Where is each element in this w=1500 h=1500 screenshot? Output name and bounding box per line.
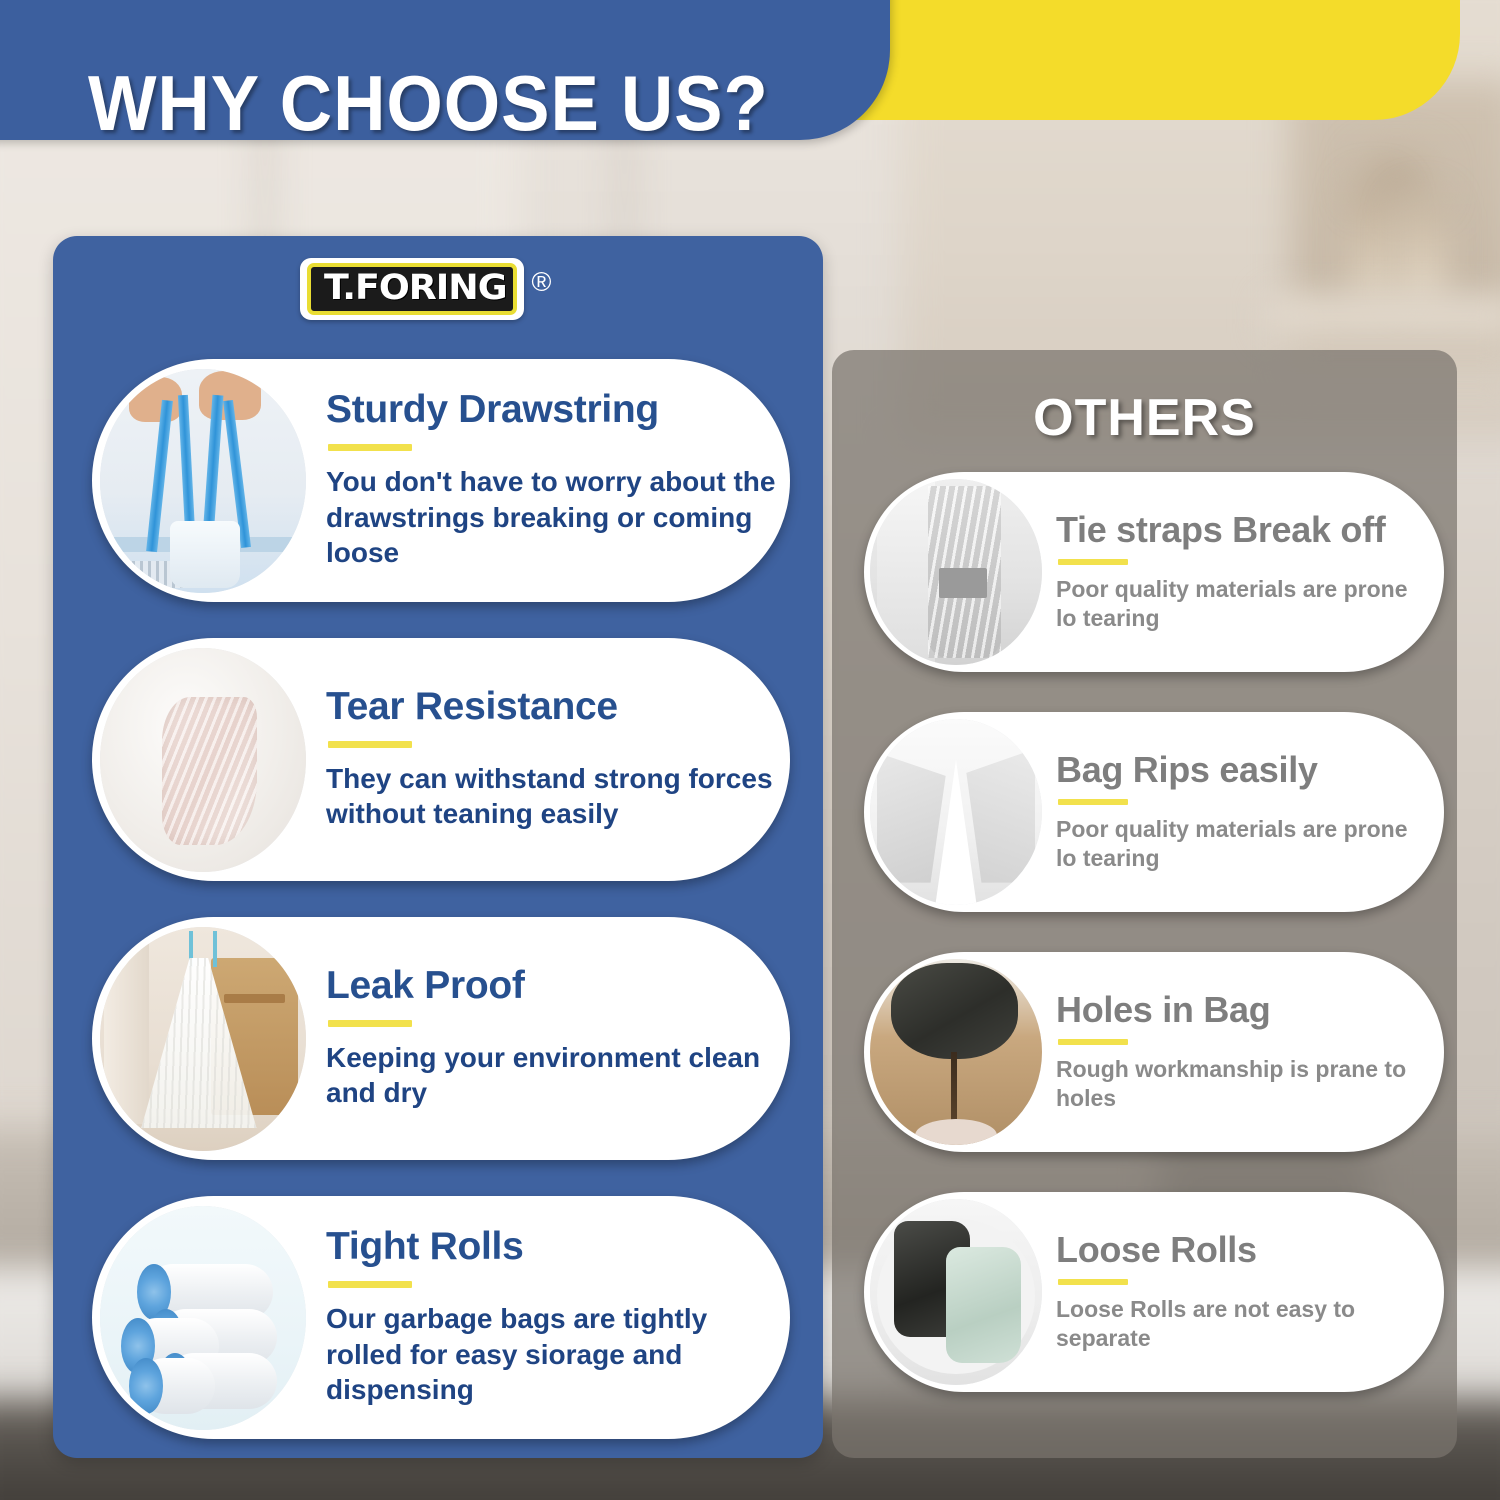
feature-card-tear-resistance[interactable]: Tear Resistance They can withstand stron… bbox=[92, 638, 790, 881]
feature-card-body: Sturdy Drawstring You don't have to worr… bbox=[306, 390, 790, 570]
title-underline-rule bbox=[328, 444, 412, 451]
logo-text: T.FORING bbox=[324, 271, 507, 306]
drawback-thumbnail-holes-in-bag bbox=[870, 959, 1042, 1145]
drawback-thumbnail-loose-rolls bbox=[870, 1199, 1042, 1385]
title-underline-rule bbox=[1058, 1039, 1128, 1045]
drawback-card-body: Holes in Bag Rough workmanship is prane … bbox=[1042, 991, 1444, 1113]
feature-title: Tight Rolls bbox=[326, 1227, 776, 1268]
title-underline-rule bbox=[328, 1020, 412, 1027]
feature-description: You don't have to worry about the drawst… bbox=[326, 464, 776, 571]
feature-description: Our garbage bags are tightly rolled for … bbox=[326, 1301, 776, 1408]
title-underline-rule bbox=[1058, 559, 1128, 565]
registered-trademark-icon: ® bbox=[532, 269, 552, 296]
drawback-description: Poor quality materials are prone lo tear… bbox=[1056, 815, 1430, 873]
feature-thumbnail-tear-resistance bbox=[100, 648, 306, 872]
feature-card-body: Tear Resistance They can withstand stron… bbox=[306, 687, 790, 832]
title-underline-rule bbox=[1058, 799, 1128, 805]
title-underline-rule bbox=[328, 741, 412, 748]
drawback-title: Tie straps Break off bbox=[1056, 511, 1430, 548]
feature-card-tight-rolls[interactable]: Tight Rolls Our garbage bags are tightly… bbox=[92, 1196, 790, 1439]
page-title: WHY CHOOSE US? bbox=[88, 58, 769, 149]
feature-description: Keeping your environment clean and dry bbox=[326, 1040, 776, 1111]
feature-card-body: Leak Proof Keeping your environment clea… bbox=[306, 966, 790, 1111]
feature-card-leak-proof[interactable]: Leak Proof Keeping your environment clea… bbox=[92, 917, 790, 1160]
drawback-description: Rough workmanship is prane to holes bbox=[1056, 1055, 1430, 1113]
feature-thumbnail-sturdy-drawstring bbox=[100, 369, 306, 593]
drawback-thumbnail-bag-rips-easily bbox=[870, 719, 1042, 905]
drawback-description: Loose Rolls are not easy to separate bbox=[1056, 1295, 1430, 1353]
drawback-card-loose-rolls[interactable]: Loose Rolls Loose Rolls are not easy to … bbox=[864, 1192, 1444, 1392]
feature-description: They can withstand strong forces without… bbox=[326, 761, 776, 832]
drawback-card-holes-in-bag[interactable]: Holes in Bag Rough workmanship is prane … bbox=[864, 952, 1444, 1152]
feature-thumbnail-leak-proof bbox=[100, 927, 306, 1151]
feature-card-sturdy-drawstring[interactable]: Sturdy Drawstring You don't have to worr… bbox=[92, 359, 790, 602]
feature-title: Leak Proof bbox=[326, 966, 776, 1007]
logo-plate: T.FORING bbox=[300, 258, 524, 320]
brand-logo: T.FORING ® bbox=[300, 258, 551, 320]
drawback-title: Loose Rolls bbox=[1056, 1231, 1430, 1268]
drawback-title: Bag Rips easily bbox=[1056, 751, 1430, 788]
others-column-title: OTHERS bbox=[832, 388, 1457, 448]
drawback-description: Poor quality materials are prone lo tear… bbox=[1056, 575, 1430, 633]
drawback-card-body: Tie straps Break off Poor quality materi… bbox=[1042, 511, 1444, 633]
title-underline-rule bbox=[328, 1281, 412, 1288]
feature-card-body: Tight Rolls Our garbage bags are tightly… bbox=[306, 1227, 790, 1407]
drawback-title: Holes in Bag bbox=[1056, 991, 1430, 1028]
logo-inner-frame: T.FORING bbox=[307, 263, 517, 315]
drawback-card-bag-rips-easily[interactable]: Bag Rips easily Poor quality materials a… bbox=[864, 712, 1444, 912]
drawback-card-body: Loose Rolls Loose Rolls are not easy to … bbox=[1042, 1231, 1444, 1353]
drawback-card-body: Bag Rips easily Poor quality materials a… bbox=[1042, 751, 1444, 873]
feature-title: Sturdy Drawstring bbox=[326, 390, 776, 431]
title-underline-rule bbox=[1058, 1279, 1128, 1285]
feature-title: Tear Resistance bbox=[326, 687, 776, 728]
drawback-card-tie-straps-break-off[interactable]: Tie straps Break off Poor quality materi… bbox=[864, 472, 1444, 672]
feature-thumbnail-tight-rolls bbox=[100, 1206, 306, 1430]
drawback-thumbnail-tie-straps-break-off bbox=[870, 479, 1042, 665]
